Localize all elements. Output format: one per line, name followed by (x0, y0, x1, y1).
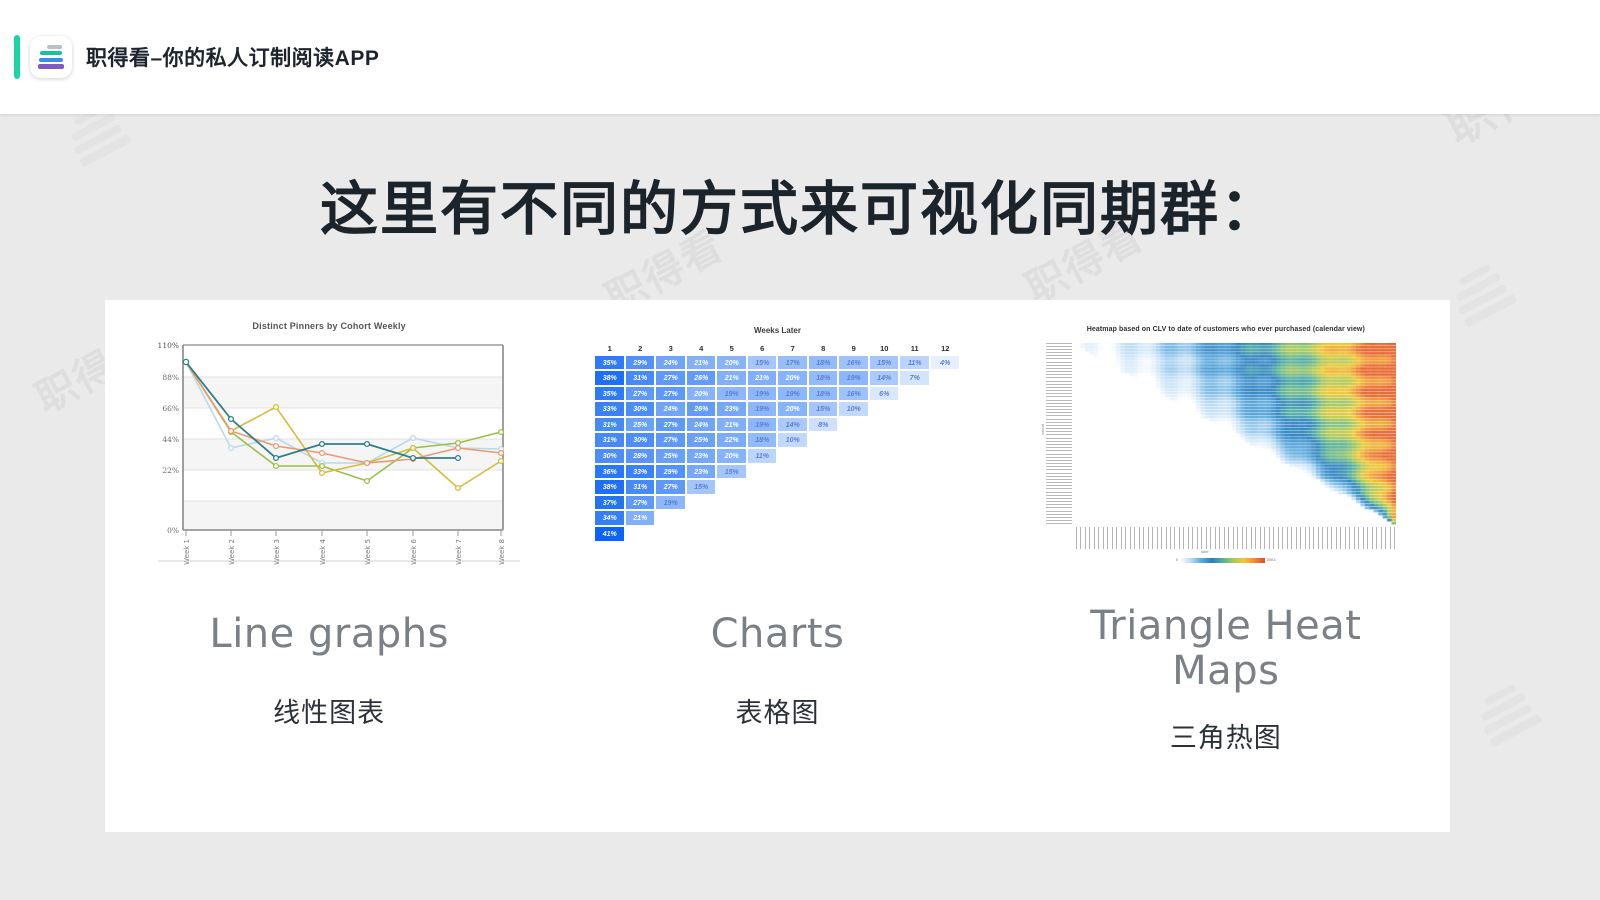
stacked-books-icon (30, 36, 72, 78)
figure-cohort-table: Weeks Later 12345678910111235%29%24%21%2… (553, 318, 1001, 568)
cohort-cell: 41% (594, 526, 625, 542)
cohort-cell (899, 432, 930, 448)
brand-accent-bar (14, 35, 20, 79)
cohort-cell (930, 432, 961, 448)
cohort-cell (899, 401, 930, 417)
cohort-cell: 20% (777, 370, 808, 386)
cohort-cell: 26% (686, 370, 717, 386)
cohort-cell: 19% (747, 417, 778, 433)
cohort-cell: 21% (716, 417, 747, 433)
heatmap-y-axis (1046, 343, 1072, 525)
cohort-cell: 28% (625, 448, 656, 464)
svg-text:44%: 44% (162, 435, 179, 444)
panel-caption-en: Line graphs (209, 612, 449, 657)
table-row: 35%29%24%21%20%15%17%18%16%15%11%4% (594, 355, 960, 371)
cohort-cell (838, 432, 869, 448)
panel-caption-zh: 线性图表 (273, 691, 385, 730)
cohort-cell (869, 479, 900, 495)
cohort-cell (716, 479, 747, 495)
cohort-cell: 17% (777, 355, 808, 371)
table-row: 41% (594, 526, 960, 542)
legend-color-bar (1180, 558, 1265, 563)
brand-title: 职得看–你的私人订制阅读APP (86, 42, 379, 72)
table-row: 36%33%29%23%15% (594, 464, 960, 480)
cohort-column-header: 2 (625, 342, 656, 355)
cohort-cell: 18% (808, 370, 839, 386)
cohort-cell: 15% (747, 355, 778, 371)
cohort-cell (747, 510, 778, 526)
table-row: 34%21% (594, 510, 960, 526)
cohort-header-row: 123456789101112 (594, 342, 960, 355)
cohort-cell (777, 526, 808, 542)
cohort-cell (808, 526, 839, 542)
cohort-cell: 35% (594, 355, 625, 371)
cohort-cell (869, 448, 900, 464)
cohort-cell: 7% (899, 370, 930, 386)
cohort-cell: 18% (747, 432, 778, 448)
cohort-cell (808, 464, 839, 480)
cohort-cell (838, 479, 869, 495)
cohort-cell: 37% (594, 495, 625, 511)
cohort-cell (777, 479, 808, 495)
cohort-cell: 16% (838, 386, 869, 402)
cohort-cell: 19% (747, 401, 778, 417)
cohort-cell: 30% (594, 448, 625, 464)
heatmap-legend: 0 200.1 (1176, 556, 1276, 565)
cohort-cell (930, 448, 961, 464)
cohort-cell: 14% (869, 370, 900, 386)
svg-text:66%: 66% (162, 404, 179, 413)
cohort-cell: 30% (625, 401, 656, 417)
svg-text:88%: 88% (162, 373, 179, 382)
cohort-column-header: 1 (594, 342, 625, 355)
cohort-cell (655, 526, 686, 542)
cohort-cell: 27% (655, 417, 686, 433)
cohort-cell: 15% (808, 401, 839, 417)
heatmap-title: Heatmap based on CLV to date of customer… (1036, 326, 1416, 333)
cohort-cell (655, 510, 686, 526)
cohort-cell: 27% (655, 370, 686, 386)
content-card: Distinct Pinners by Cohort Weekly (105, 300, 1450, 832)
cohort-cell: 6% (869, 386, 900, 402)
table-row: 35%27%27%20%19%19%19%18%16%6% (594, 386, 960, 402)
cohort-cell (747, 464, 778, 480)
cohort-cell (899, 495, 930, 511)
cohort-cell: 19% (777, 386, 808, 402)
cohort-cell (930, 464, 961, 480)
line-chart-title: Distinct Pinners by Cohort Weekly (138, 321, 520, 331)
cohort-cell: 29% (625, 355, 656, 371)
cohort-cell (899, 448, 930, 464)
cohort-cell (686, 495, 717, 511)
cohort-cell: 19% (747, 386, 778, 402)
cohort-cell: 27% (625, 495, 656, 511)
cohort-column-header: 11 (899, 342, 930, 355)
table-row: 31%30%27%25%22%18%10% (594, 432, 960, 448)
table-row: 30%28%25%23%20%11% (594, 448, 960, 464)
cohort-cell: 34% (594, 510, 625, 526)
heatmap-ylabel: cohort (1040, 423, 1045, 434)
panel-caption-en: Charts (711, 612, 845, 657)
cohort-cell (869, 495, 900, 511)
panel-triangle-heat-maps: Heatmap based on CLV to date of customer… (1002, 318, 1450, 755)
cohort-cell (625, 526, 656, 542)
cohort-cell: 23% (716, 401, 747, 417)
cohort-cell: 19% (838, 370, 869, 386)
cohort-cell (808, 495, 839, 511)
cohort-cell (869, 510, 900, 526)
cohort-cell: 23% (686, 448, 717, 464)
cohort-cell: 29% (655, 464, 686, 480)
cohort-cell (838, 526, 869, 542)
table-row: 38%31%27%26%21%21%20%18%19%14%7% (594, 370, 960, 386)
cohort-cell (808, 510, 839, 526)
cohort-cell: 25% (655, 448, 686, 464)
panel-charts: Weeks Later 12345678910111235%29%24%21%2… (553, 318, 1001, 755)
cohort-cell: 33% (594, 401, 625, 417)
cohort-cell: 25% (686, 432, 717, 448)
cohort-cell: 38% (594, 370, 625, 386)
heatmap-xlabel: date (1201, 549, 1209, 554)
panel-caption-zh: 三角热图 (1170, 716, 1282, 755)
heatmap-plot (1076, 343, 1396, 525)
line-chart: Distinct Pinners by Cohort Weekly (138, 321, 520, 566)
cohort-column-header: 8 (808, 342, 839, 355)
cohort-column-header: 12 (930, 342, 961, 355)
cohort-cell: 31% (594, 432, 625, 448)
cohort-cell: 15% (716, 464, 747, 480)
cohort-cell: 24% (686, 417, 717, 433)
cohort-cell: 31% (594, 417, 625, 433)
cohort-cell: 31% (625, 370, 656, 386)
cohort-cell: 25% (625, 417, 656, 433)
cohort-cell (930, 526, 961, 542)
cohort-cell (747, 526, 778, 542)
cohort-cell: 22% (716, 432, 747, 448)
panel-caption-en: Triangle Heat Maps (1061, 604, 1391, 694)
cohort-column-header: 10 (869, 342, 900, 355)
cohort-column-header: 6 (747, 342, 778, 355)
heatmap-body: cohort date 0 200.1 (1036, 343, 1416, 533)
cohort-cell: 21% (686, 355, 717, 371)
cohort-cell (869, 432, 900, 448)
cohort-cell: 31% (625, 479, 656, 495)
cohort-cell: 20% (686, 386, 717, 402)
line-chart-svg: 110% 88% 66% 44% 22% 0% (138, 335, 520, 565)
cohort-cell (930, 401, 961, 417)
cohort-cell (716, 510, 747, 526)
cohort-column-header: 5 (716, 342, 747, 355)
cohort-cell (869, 401, 900, 417)
legend-tick-min: 0 (1176, 558, 1178, 562)
cohort-cell: 26% (686, 401, 717, 417)
cohort-cell: 23% (686, 464, 717, 480)
cohort-cell (716, 495, 747, 511)
cohort-cell (686, 510, 717, 526)
cohort-cell: 21% (747, 370, 778, 386)
cohort-cell (777, 510, 808, 526)
cohort-cell: 19% (716, 386, 747, 402)
cohort-cell (808, 448, 839, 464)
figure-triangle-heatmap: Heatmap based on CLV to date of customer… (1002, 318, 1450, 568)
cohort-cell (930, 370, 961, 386)
cohort-table: Weeks Later 12345678910111235%29%24%21%2… (586, 326, 968, 561)
cohort-cell (930, 495, 961, 511)
cohort-cell (747, 495, 778, 511)
cohort-cell: 10% (838, 401, 869, 417)
cohort-cell: 20% (777, 401, 808, 417)
cohort-cell (930, 417, 961, 433)
cohort-cell (899, 386, 930, 402)
triangle-heatmap: Heatmap based on CLV to date of customer… (1036, 326, 1416, 561)
table-row: 31%25%27%24%21%19%14%8% (594, 417, 960, 433)
svg-text:110%: 110% (158, 341, 179, 350)
cohort-cell (777, 495, 808, 511)
cohort-cell: 27% (655, 386, 686, 402)
cohort-cell: 30% (625, 432, 656, 448)
table-row: 37%27%19% (594, 495, 960, 511)
cohort-cell: 4% (930, 355, 961, 371)
cohort-cell (930, 386, 961, 402)
cohort-column-header: 4 (686, 342, 717, 355)
cohort-cell: 14% (777, 417, 808, 433)
cohort-cell (838, 448, 869, 464)
cohort-cell (899, 510, 930, 526)
cohort-cell: 15% (869, 355, 900, 371)
cohort-cell (869, 526, 900, 542)
cohort-cell: 33% (625, 464, 656, 480)
cohort-cell (838, 510, 869, 526)
panel-line-graphs: Distinct Pinners by Cohort Weekly (105, 318, 553, 755)
panel-caption-zh: 表格图 (735, 691, 819, 730)
cohort-cell (899, 464, 930, 480)
cohort-cell (869, 464, 900, 480)
cohort-cell: 21% (625, 510, 656, 526)
table-row: 38%31%27%15% (594, 479, 960, 495)
watermark-logo-icon (1446, 260, 1520, 332)
slide-page: 职得看 职得看 职得看 职得看 职得看 职得看 职得看–你的私人订制阅读APP … (0, 0, 1600, 900)
cohort-cell (777, 464, 808, 480)
cohort-cell (686, 526, 717, 542)
cohort-cell: 11% (899, 355, 930, 371)
cohort-cell: 27% (655, 479, 686, 495)
cohort-cell: 24% (655, 401, 686, 417)
app-header: 职得看–你的私人订制阅读APP (0, 0, 1600, 114)
cohort-cell (838, 464, 869, 480)
panels-row: Distinct Pinners by Cohort Weekly (105, 300, 1450, 755)
table-row: 33%30%24%26%23%19%20%15%10% (594, 401, 960, 417)
cohort-cell (808, 432, 839, 448)
svg-text:22%: 22% (162, 466, 179, 475)
cohort-cell (747, 479, 778, 495)
legend-tick-max: 200.1 (1267, 558, 1276, 562)
cohort-cell: 24% (655, 355, 686, 371)
cohort-table-title: Weeks Later (586, 326, 968, 335)
cohort-cell (930, 510, 961, 526)
figure-line-chart: Distinct Pinners by Cohort Weekly (105, 318, 553, 568)
cohort-cell: 11% (747, 448, 778, 464)
cohort-cell: 16% (838, 355, 869, 371)
cohort-cell: 27% (625, 386, 656, 402)
cohort-cell: 18% (808, 386, 839, 402)
cohort-cell (838, 417, 869, 433)
cohort-cell (716, 526, 747, 542)
cohort-cell: 38% (594, 479, 625, 495)
cohort-table-grid: 12345678910111235%29%24%21%20%15%17%18%1… (594, 342, 960, 542)
cohort-column-header: 9 (838, 342, 869, 355)
cohort-cell: 20% (716, 448, 747, 464)
cohort-cell (808, 479, 839, 495)
cohort-cell (899, 417, 930, 433)
cohort-cell: 15% (686, 479, 717, 495)
cohort-cell: 27% (655, 432, 686, 448)
heatmap-x-axis (1076, 527, 1396, 549)
cohort-cell: 20% (716, 355, 747, 371)
cohort-cell (899, 526, 930, 542)
cohort-cell (777, 448, 808, 464)
cohort-column-header: 3 (655, 342, 686, 355)
cohort-cell: 36% (594, 464, 625, 480)
cohort-cell: 19% (655, 495, 686, 511)
cohort-cell (869, 417, 900, 433)
cohort-column-header: 7 (777, 342, 808, 355)
watermark-logo-icon (1471, 680, 1545, 752)
page-title: 这里有不同的方式来可视化同期群： (0, 162, 1600, 246)
cohort-cell: 21% (716, 370, 747, 386)
cohort-cell: 10% (777, 432, 808, 448)
cohort-cell (838, 495, 869, 511)
cohort-cell (930, 479, 961, 495)
cohort-cell: 8% (808, 417, 839, 433)
cohort-cell: 18% (808, 355, 839, 371)
cohort-cell (899, 479, 930, 495)
svg-text:0%: 0% (167, 526, 179, 535)
cohort-cell: 35% (594, 386, 625, 402)
